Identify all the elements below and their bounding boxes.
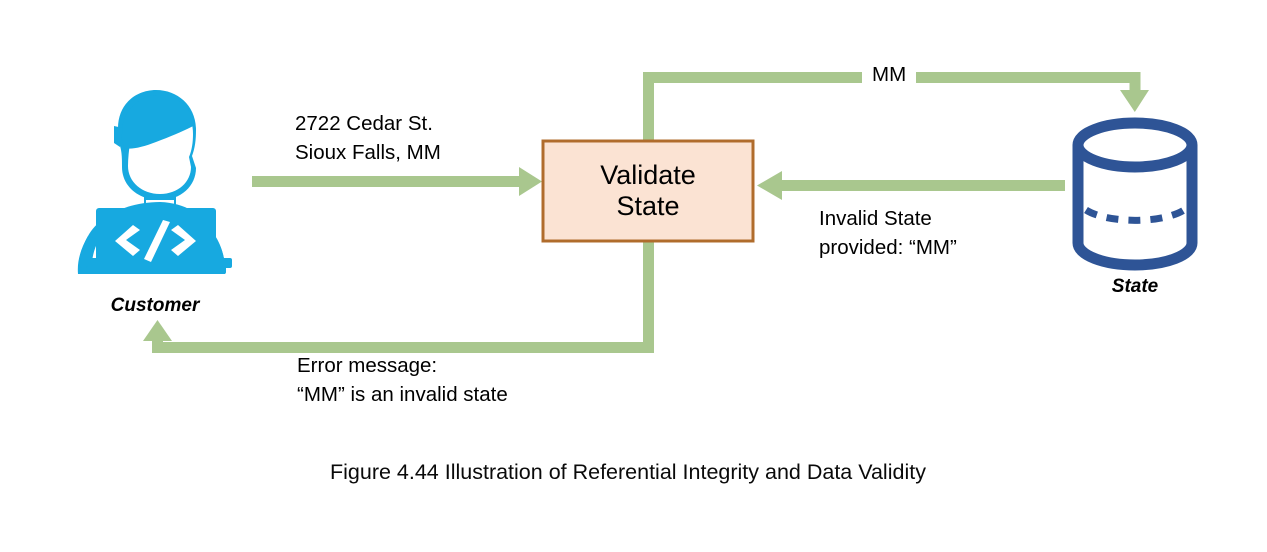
flow-label-validate-to-state: MM: [862, 62, 916, 88]
flow-label-state-to-validate-line1: Invalid State: [819, 206, 932, 232]
entity-caption-state: State: [1055, 275, 1215, 299]
process-box-label-line1: Validate: [600, 160, 696, 191]
process-box-label-line2: State: [616, 191, 679, 222]
flow-label-state-to-validate-line2: provided: “MM”: [819, 235, 957, 261]
arrow-customer-to-validate: [252, 167, 542, 196]
arrow-state-to-validate: [757, 171, 1065, 200]
diagram-canvas: 2722 Cedar St. Sioux Falls, MM MM Invali…: [0, 0, 1267, 552]
flow-label-customer-to-validate-line1: 2722 Cedar St.: [295, 111, 433, 137]
person-with-laptop-icon: [78, 90, 232, 274]
flow-label-customer-to-validate-line2: Sioux Falls, MM: [295, 140, 441, 166]
database-cylinder-icon: [1078, 123, 1192, 265]
figure-caption: Figure 4.44 Illustration of Referential …: [330, 459, 926, 487]
entity-caption-customer: Customer: [75, 294, 235, 318]
process-box-label[interactable]: Validate State: [543, 141, 753, 241]
flow-label-validate-to-customer-line2: “MM” is an invalid state: [297, 382, 508, 408]
flow-label-validate-to-customer-line1: Error message:: [297, 353, 437, 379]
